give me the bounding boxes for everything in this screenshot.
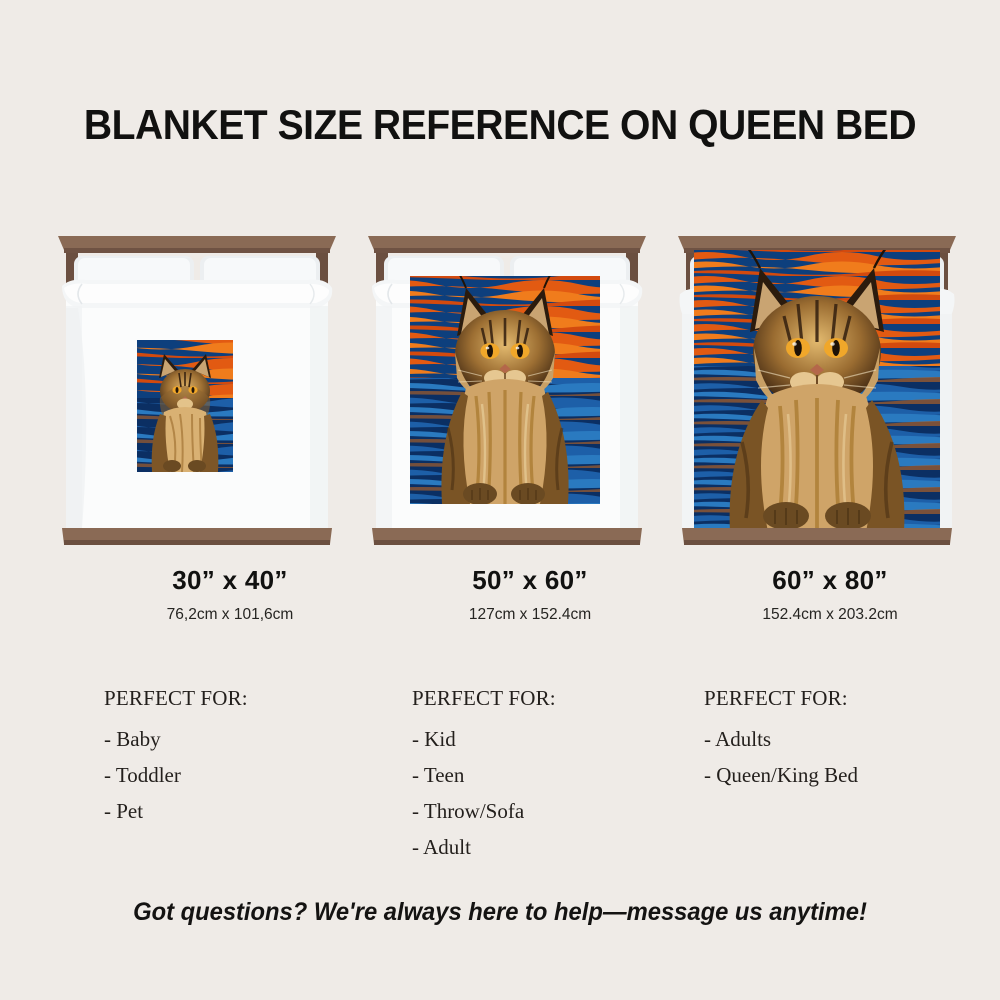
bed-illustrations-row (0, 228, 1000, 558)
perfect-for-heading: PERFECT FOR: (412, 686, 712, 711)
size-inches: 50” x 60” (380, 565, 680, 596)
perfect-for-row: PERFECT FOR: - Baby - Toddler - Pet PERF… (0, 686, 1000, 866)
size-label-50x60: 50” x 60” 127cm x 152.4cm (380, 565, 680, 624)
list-item: - Pet (104, 793, 404, 829)
blanket-artwork-small (137, 340, 233, 472)
list-item: - Baby (104, 721, 404, 757)
list-item: - Adult (412, 829, 712, 865)
infographic-page: BLANKET SIZE REFERENCE ON QUEEN BED (0, 0, 1000, 1000)
bed-illustration-50x60 (362, 228, 652, 558)
list-item: - Kid (412, 721, 712, 757)
perfect-for-50x60: PERFECT FOR: - Kid - Teen - Throw/Sofa -… (412, 686, 712, 865)
list-item: - Throw/Sofa (412, 793, 712, 829)
list-item: - Queen/King Bed (704, 757, 1000, 793)
size-inches: 60” x 80” (680, 565, 980, 596)
size-centimeters: 152.4cm x 203.2cm (680, 606, 980, 624)
size-label-30x40: 30” x 40” 76,2cm x 101,6cm (80, 565, 380, 624)
blanket-artwork-large (694, 248, 940, 532)
size-label-60x80: 60” x 80” 152.4cm x 203.2cm (680, 565, 980, 624)
perfect-for-60x80: PERFECT FOR: - Adults - Queen/King Bed (704, 686, 1000, 793)
size-labels-row: 30” x 40” 76,2cm x 101,6cm 50” x 60” 127… (0, 565, 1000, 635)
page-title: BLANKET SIZE REFERENCE ON QUEEN BED (35, 101, 965, 149)
bed-illustration-60x80 (672, 228, 962, 558)
bed-illustration-30x40 (52, 228, 342, 558)
size-inches: 30” x 40” (80, 565, 380, 596)
list-item: - Adults (704, 721, 1000, 757)
perfect-for-heading: PERFECT FOR: (704, 686, 1000, 711)
list-item: - Toddler (104, 757, 404, 793)
perfect-for-30x40: PERFECT FOR: - Baby - Toddler - Pet (104, 686, 404, 829)
list-item: - Teen (412, 757, 712, 793)
perfect-for-heading: PERFECT FOR: (104, 686, 404, 711)
size-centimeters: 127cm x 152.4cm (380, 606, 680, 624)
footer-message: Got questions? We're always here to help… (25, 898, 975, 927)
size-centimeters: 76,2cm x 101,6cm (80, 606, 380, 624)
blanket-artwork-medium (410, 272, 600, 505)
